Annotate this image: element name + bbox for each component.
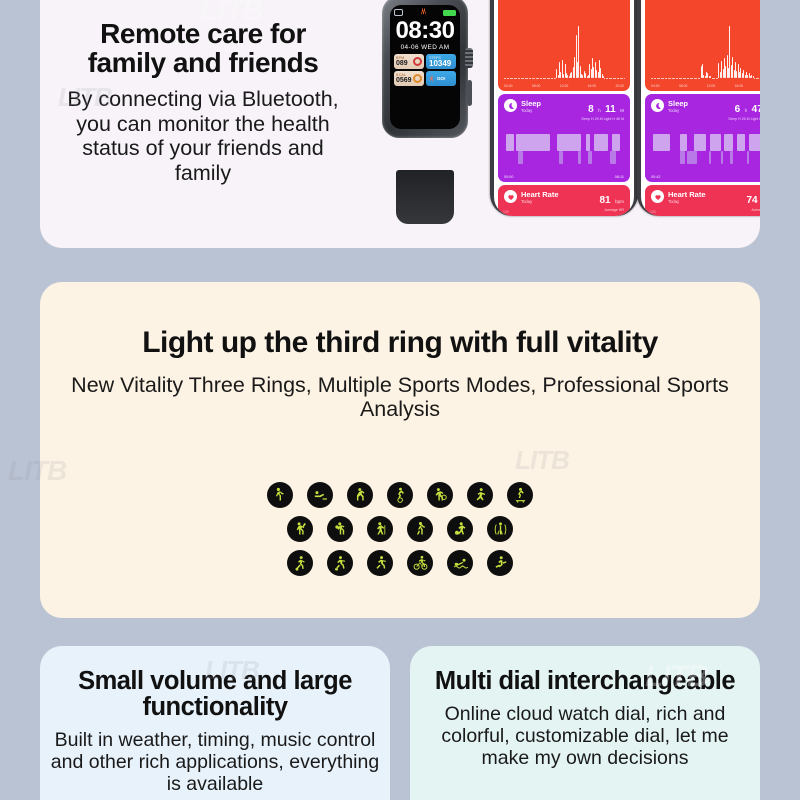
chart-bar <box>743 70 744 78</box>
sleep-card-header: Sleep Today 6 h 47 M <box>651 99 760 122</box>
chart-bar <box>552 78 553 79</box>
chart-bar <box>505 78 506 79</box>
product-feature-page: LITB LITB LITB LITB LITB LITB Remote car… <box>0 0 800 800</box>
chart-bar <box>589 64 590 78</box>
sleep-chart <box>651 128 760 168</box>
football-icon[interactable] <box>327 550 353 576</box>
chart-bar <box>718 63 719 78</box>
watch-crown[interactable] <box>465 48 473 68</box>
heart-rate-unit: bpm <box>615 199 624 204</box>
sleep-segment <box>724 134 732 151</box>
small-volume-heading: Small volume and large functionality <box>50 668 380 720</box>
sleep-segment <box>653 134 670 151</box>
chart-bar <box>611 78 612 79</box>
chart-bar <box>549 78 550 79</box>
chart-bar <box>729 26 730 78</box>
axis-tick: 04:00 <box>651 84 660 88</box>
chart-bar <box>563 74 564 78</box>
sleep-segment <box>680 134 687 151</box>
phone-screenshot-1: ‹ Today › <box>490 0 638 216</box>
running-icon[interactable] <box>367 550 393 576</box>
small-volume-card: Small volume and large functionality Bui… <box>40 646 390 800</box>
watch-steps-tile[interactable]: STEPS 10349 <box>426 54 456 69</box>
martial-arts-icon[interactable] <box>487 550 513 576</box>
steps-card-header: Steps Today 3374 Steps <box>504 0 624 2</box>
chart-bar <box>666 78 667 79</box>
chart-bar <box>751 75 752 78</box>
phone-frame: ‹ Today › <box>490 0 638 216</box>
basketball-icon[interactable] <box>427 482 453 508</box>
app-cards: Steps Today 3374 Steps 04:0008 <box>494 0 634 216</box>
chart-bar <box>740 68 741 78</box>
chart-bar <box>754 78 755 79</box>
sleep-segment <box>586 134 591 151</box>
watch-tiles-right: STEPS 10349 GO! <box>426 54 456 86</box>
rowing-icon[interactable] <box>307 482 333 508</box>
steps-bar-chart <box>651 26 760 78</box>
chart-bar <box>736 71 737 78</box>
soccer-icon[interactable] <box>287 550 313 576</box>
gymnastics-icon[interactable] <box>387 482 413 508</box>
chart-bar <box>582 75 583 78</box>
sleep-segment <box>518 151 523 164</box>
chart-bar <box>523 78 524 79</box>
vitality-body: New Vitality Three Rings, Multiple Sport… <box>40 373 760 422</box>
sleep-card[interactable]: Sleep Today 6 h 47 M <box>645 94 760 182</box>
watch-time: 08:30 <box>394 18 456 43</box>
chart-bar <box>604 78 605 79</box>
chart-bar <box>732 57 733 78</box>
sports-row <box>267 482 533 508</box>
boxing-icon[interactable] <box>327 516 353 542</box>
chart-bar <box>725 66 726 78</box>
heart-rate-axis-min: 120 <box>503 210 509 214</box>
watch-tiles-left: BPM 089 KCAL 0569 <box>394 54 424 86</box>
walking-icon[interactable] <box>267 482 293 508</box>
sports-row <box>287 550 513 576</box>
sleep-title: Sleep <box>668 99 688 108</box>
chart-bar <box>530 78 531 79</box>
chart-bar <box>519 78 520 79</box>
phone-screen: ‹ Today › <box>641 0 760 216</box>
chart-bar <box>600 68 601 78</box>
chart-bar <box>541 78 542 79</box>
bluetooth-icon <box>394 9 403 16</box>
heart-rate-value: 74 <box>746 195 757 206</box>
watch-tiles: BPM 089 KCAL 0569 <box>394 54 456 86</box>
chart-bar <box>615 78 616 79</box>
cycling-icon[interactable] <box>407 550 433 576</box>
chart-bar <box>593 67 594 78</box>
watch-body: /\/\ 08:30 04-06 WED AM BPM 089 <box>382 0 468 138</box>
vitality-heading: Light up the third ring with full vitali… <box>40 328 760 359</box>
moon-icon <box>504 99 517 112</box>
sleep-start-time: 00:00 <box>504 175 514 179</box>
watch-bpm-tile[interactable]: BPM 089 <box>394 54 424 69</box>
sleep-segment <box>588 151 592 164</box>
chart-bar <box>607 78 608 79</box>
sleep-light-row <box>651 134 760 151</box>
chart-bar <box>534 78 535 79</box>
watch-bpm-value: 089 <box>396 60 408 67</box>
chart-bar <box>585 73 586 78</box>
axis-tick: 04:00 <box>504 84 513 88</box>
chart-bar <box>560 72 561 78</box>
battery-icon <box>443 10 456 16</box>
heart-rate-card[interactable]: Heart Rate Today 74 bpm Average <box>645 185 760 216</box>
steps-card[interactable]: Steps Today 3911 Steps 04:0008 <box>645 0 760 91</box>
dance-icon[interactable] <box>467 482 493 508</box>
steps-axis: 04:0008:0012:0016:0020:00 <box>651 84 760 88</box>
sleep-deep-row <box>651 151 760 164</box>
chart-bar <box>707 73 708 78</box>
chart-bar <box>567 75 568 78</box>
axis-tick: 16:00 <box>735 84 744 88</box>
axis-tick: 08:00 <box>679 84 688 88</box>
calorie-ring-icon <box>413 74 422 83</box>
sleep-segment <box>594 134 608 151</box>
sleep-hours-unit: h <box>598 108 601 113</box>
sleep-minutes: 11 <box>605 104 616 115</box>
sleep-chart <box>504 128 624 168</box>
heart-ring-icon <box>413 57 422 66</box>
skateboard-icon[interactable] <box>507 482 533 508</box>
sleep-footer: 00:00 08:11 <box>504 175 624 179</box>
sleep-segment <box>709 151 711 164</box>
watch-kcal-value: 0569 <box>396 77 412 84</box>
watch-steps-value: 10349 <box>429 60 451 68</box>
watch-strap-bottom <box>396 170 454 224</box>
sleep-note: Deep H 26 M Light H 21 M <box>728 117 760 122</box>
heart-rate-note: Average HR <box>599 208 624 213</box>
smartwatch-product-image: /\/\ 08:30 04-06 WED AM BPM 089 <box>370 0 482 224</box>
multi-dial-body: Online cloud watch dial, rich and colorf… <box>420 703 750 770</box>
sleep-segment <box>710 134 721 151</box>
sleep-subtitle: Today <box>521 108 541 114</box>
axis-tick: 08:00 <box>532 84 541 88</box>
chart-bar <box>710 76 711 78</box>
walk-fast-icon[interactable] <box>407 516 433 542</box>
runner-icon <box>428 75 435 82</box>
yoga-icon[interactable] <box>347 482 373 508</box>
moon-icon <box>651 99 664 112</box>
heart-rate-icon: /\/\ <box>421 9 425 16</box>
sleep-segment <box>506 134 513 151</box>
steps-card[interactable]: Steps Today 3374 Steps 04:0008 <box>498 0 630 91</box>
chart-bar <box>578 26 579 78</box>
heart-rate-subtitle: Today <box>521 199 559 205</box>
watch-status-bar: /\/\ <box>394 8 456 17</box>
sports-row <box>287 516 513 542</box>
steps-bar-chart <box>504 26 624 78</box>
vitality-card: Light up the third ring with full vitali… <box>40 282 760 618</box>
watch-date: 04-06 WED AM <box>394 44 456 51</box>
chart-bar <box>670 78 671 79</box>
sleep-deep-row <box>504 151 624 164</box>
sleep-minutes: 47 <box>752 104 760 115</box>
sleep-minutes-unit: M <box>620 108 624 113</box>
swimming-icon[interactable] <box>447 550 473 576</box>
watch-side-button[interactable] <box>467 80 472 106</box>
axis-tick: 12:00 <box>560 84 569 88</box>
remote-care-body: By connecting via Bluetooth, you can mon… <box>58 87 348 185</box>
bowling-icon[interactable] <box>447 516 473 542</box>
sleep-segment <box>516 134 550 151</box>
sleep-segment <box>559 151 563 164</box>
small-volume-text-block: Small volume and large functionality Bui… <box>40 668 390 796</box>
heart-rate-subtitle: Today <box>668 199 706 205</box>
sports-modes-grid <box>40 482 760 576</box>
sleep-card[interactable]: Sleep Today 8 h 11 M <box>498 94 630 182</box>
chart-bar <box>696 78 697 79</box>
phone-screen: ‹ Today › <box>494 0 634 216</box>
sleep-segment <box>737 134 744 151</box>
chart-bar <box>618 78 619 79</box>
multi-dial-card: Multi dial interchangeable Online cloud … <box>410 646 760 800</box>
jump-rope-icon[interactable] <box>487 516 513 542</box>
hiking-icon[interactable] <box>367 516 393 542</box>
chart-bar <box>512 78 513 79</box>
heart-rate-card-header: Heart Rate Today 74 bpm Average <box>651 190 760 213</box>
heart-rate-title: Heart Rate <box>521 190 559 199</box>
chart-bar <box>677 78 678 79</box>
chart-bar <box>703 75 704 78</box>
sleep-segment <box>610 151 616 164</box>
sleep-segment <box>578 151 580 164</box>
chart-bar <box>747 75 748 78</box>
chart-bar <box>681 78 682 79</box>
axis-tick: 20:00 <box>616 84 625 88</box>
watch-kcal-tile[interactable]: KCAL 0569 <box>394 71 424 86</box>
sleep-segment <box>612 134 620 151</box>
sleep-note: Deep H 25 M Light H 46 M <box>581 117 624 122</box>
sleep-segment <box>680 151 685 164</box>
sleep-hours: 8 <box>588 104 594 115</box>
sleep-segment <box>747 151 749 164</box>
chart-bar <box>663 78 664 79</box>
chart-bar <box>508 78 509 79</box>
multi-dial-text-block: Multi dial interchangeable Online cloud … <box>410 668 760 770</box>
heart-rate-note: Average HR <box>746 208 760 213</box>
chart-bar <box>652 78 653 79</box>
sleep-title: Sleep <box>521 99 541 108</box>
sleep-subtitle: Today <box>668 108 688 114</box>
chart-bar <box>556 69 557 78</box>
chart-bar <box>624 78 625 79</box>
chart-bar <box>688 78 689 79</box>
chart-bar <box>622 78 623 79</box>
chart-bar <box>699 78 700 79</box>
chart-bar <box>674 78 675 79</box>
chart-bar <box>545 78 546 79</box>
sleep-segment <box>694 134 706 151</box>
remote-care-card: LITB Remote care for family and friends … <box>40 0 760 248</box>
chart-bar <box>516 78 517 79</box>
heart-icon <box>651 190 664 203</box>
sleep-end-time: 08:11 <box>615 175 624 179</box>
sleep-hours-unit: h <box>745 108 748 113</box>
chart-bar <box>574 57 575 78</box>
remote-care-heading: Remote care for family and friends <box>58 20 348 77</box>
sleep-segment <box>749 134 760 151</box>
chart-bar <box>571 72 572 78</box>
chart-bar <box>758 78 759 79</box>
chart-bar <box>659 78 660 79</box>
heart-rate-title: Heart Rate <box>668 190 706 199</box>
vitality-text-block: Light up the third ring with full vitali… <box>40 328 760 422</box>
sleep-start-time: 00:42 <box>651 175 661 179</box>
sleep-segment <box>687 151 697 164</box>
heart-rate-card-header: Heart Rate Today 81 bpm Average <box>504 190 624 213</box>
heart-rate-card[interactable]: Heart Rate Today 81 bpm Average <box>498 185 630 216</box>
sleep-light-row <box>504 134 624 151</box>
steps-axis: 04:0008:0012:0016:0020:00 <box>504 84 624 88</box>
sleep-segment <box>557 134 581 151</box>
small-volume-body: Built in weather, timing, music control … <box>50 729 380 796</box>
watch-go-tile[interactable]: GO! <box>426 71 456 86</box>
watch-go-label: GO! <box>437 76 446 81</box>
chart-bar <box>692 78 693 79</box>
chart-bar <box>596 70 597 78</box>
axis-tick: 16:00 <box>588 84 597 88</box>
chart-bar <box>685 78 686 79</box>
multi-dial-heading: Multi dial interchangeable <box>420 668 750 694</box>
sleep-card-header: Sleep Today 8 h 11 M <box>504 99 624 122</box>
phone-screenshot-2: ‹ Today › <box>637 0 760 216</box>
heart-rate-axis-min: 120 <box>650 210 656 214</box>
remote-care-text-block: Remote care for family and friends By co… <box>58 20 348 185</box>
heart-icon <box>504 190 517 203</box>
chart-bar <box>714 78 715 79</box>
sleep-footer: 00:42 07:29 <box>651 175 760 179</box>
chart-bar <box>538 78 539 79</box>
steps-card-header: Steps Today 3911 Steps <box>651 0 760 2</box>
chart-bar <box>527 78 528 79</box>
chart-bar <box>721 61 722 78</box>
badminton-icon[interactable] <box>287 516 313 542</box>
sleep-segment <box>730 151 732 164</box>
chart-bar <box>655 78 656 79</box>
heart-rate-value: 81 <box>599 195 610 206</box>
app-cards: Steps Today 3911 Steps 04:0008 <box>641 0 760 216</box>
sleep-hours: 6 <box>735 104 741 115</box>
phone-frame: ‹ Today › <box>637 0 760 216</box>
axis-tick: 12:00 <box>707 84 716 88</box>
sleep-segment <box>721 151 723 164</box>
watch-screen: /\/\ 08:30 04-06 WED AM BPM 089 <box>390 5 460 129</box>
